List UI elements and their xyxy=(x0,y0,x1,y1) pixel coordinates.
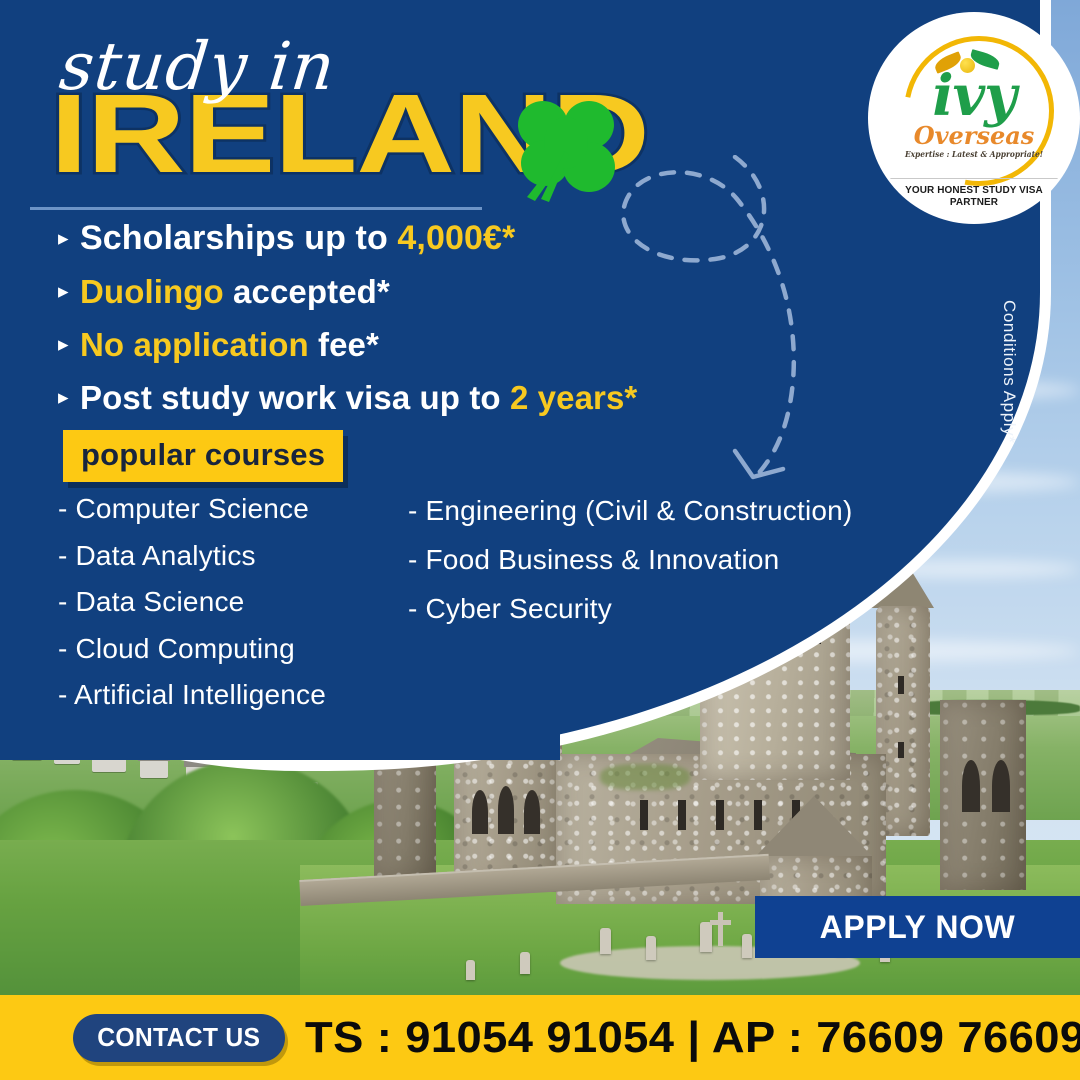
benefit-text: Post study work visa up to 2 years* xyxy=(80,379,637,417)
benefit-text: Scholarships up to 4,000€* xyxy=(80,219,515,258)
bullet-triangle-icon: ▸ xyxy=(58,281,80,302)
courses-left-column: - Computer Science - Data Analytics - Da… xyxy=(58,486,438,719)
title-underline xyxy=(30,207,482,210)
logo-tagline: Expertise : Latest & Appropriate! xyxy=(875,150,1072,159)
bullet-triangle-icon: ▸ xyxy=(58,228,80,249)
bullet-triangle-icon: ▸ xyxy=(58,387,80,408)
logo-overseas-wordmark: Overseas xyxy=(868,124,1080,148)
benefits-list: ▸ Scholarships up to 4,000€* ▸ Duolingo … xyxy=(58,212,758,424)
benefit-text: No application fee* xyxy=(80,326,379,364)
popular-courses-label: popular courses xyxy=(81,437,325,472)
benefit-item: ▸ No application fee* xyxy=(58,318,758,371)
benefit-item: ▸ Post study work visa up to 2 years* xyxy=(58,371,758,424)
four-leaf-clover-icon xyxy=(505,93,629,203)
course-item: - Computer Science xyxy=(58,486,438,533)
apply-now-label: APPLY NOW xyxy=(820,909,1016,946)
contact-phone-numbers[interactable]: TS : 91054 91054 | AP : 76609 76609 xyxy=(305,1013,1080,1063)
course-item: - Cyber Security xyxy=(408,584,948,633)
brand-logo[interactable]: ivy Overseas Expertise : Latest & Approp… xyxy=(868,12,1080,224)
apply-now-button[interactable]: APPLY NOW xyxy=(755,896,1080,958)
course-item: - Artificial Intelligence xyxy=(58,672,438,719)
logo-strapline: YOUR HONEST STUDY VISA PARTNER xyxy=(890,178,1057,208)
contact-us-pill[interactable]: CONTACT US xyxy=(73,1014,285,1062)
popular-courses-badge: popular courses xyxy=(63,430,343,482)
conditions-note: Conditions Apply* xyxy=(999,300,1019,520)
benefit-item: ▸ Duolingo accepted* xyxy=(58,265,758,318)
logo-ivy-wordmark: ivy xyxy=(868,68,1080,124)
course-item: - Data Analytics xyxy=(58,533,438,580)
course-item: - Cloud Computing xyxy=(58,626,438,673)
headline-kicker: study in xyxy=(56,32,338,102)
bullet-triangle-icon: ▸ xyxy=(58,334,80,355)
benefit-item: ▸ Scholarships up to 4,000€* xyxy=(58,212,758,265)
contact-us-label: CONTACT US xyxy=(97,1022,260,1053)
contact-bar: CONTACT US TS : 91054 91054 | AP : 76609… xyxy=(0,995,1080,1080)
course-item: - Data Science xyxy=(58,579,438,626)
course-item: - Engineering (Civil & Construction) xyxy=(408,486,948,535)
benefit-text: Duolingo accepted* xyxy=(80,273,390,311)
course-item: - Food Business & Innovation xyxy=(408,535,948,584)
courses-right-column: - Engineering (Civil & Construction) - F… xyxy=(408,486,948,633)
poster-canvas: ivy Overseas Expertise : Latest & Approp… xyxy=(0,0,1080,1080)
